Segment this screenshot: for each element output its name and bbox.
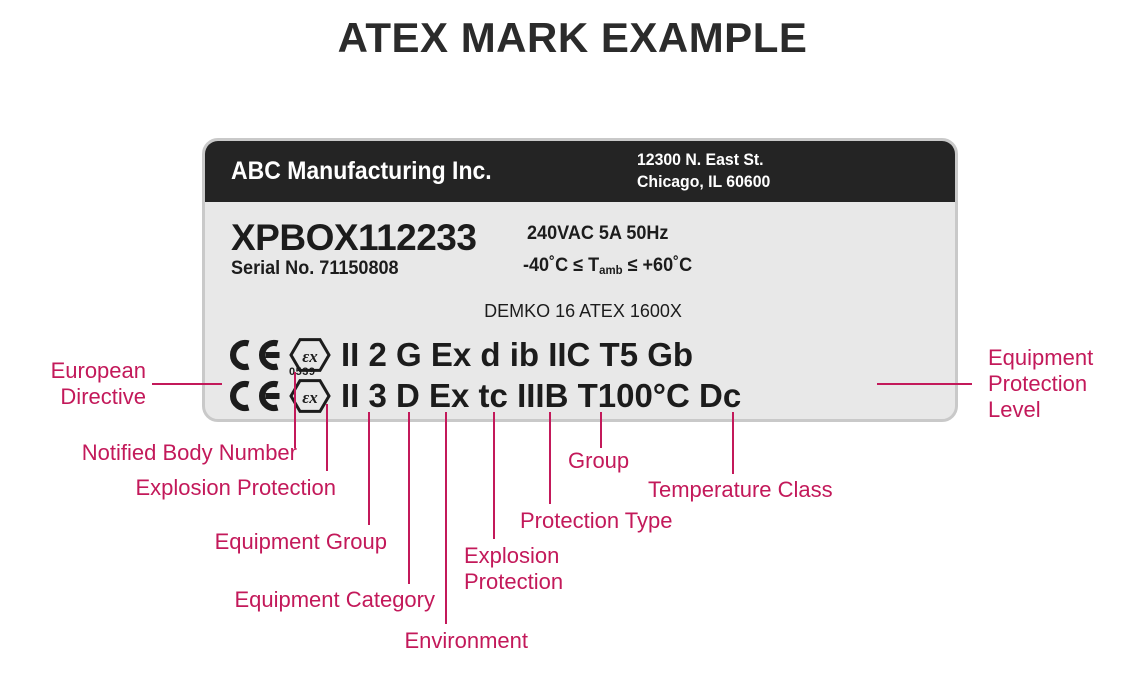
leader-line-explosion-protection (493, 412, 495, 539)
annotation-equipment-protection-level: Equipment Protection Level (988, 345, 1093, 423)
ce-mark-icon (227, 338, 283, 372)
leader-line-notified-body-number (294, 372, 296, 448)
electrical-rating: 240VAC 5A 50Hz (527, 223, 668, 245)
annotation-equipment-protection-level-line-2: Protection (988, 371, 1093, 397)
annotation-explosion-protection-line-2: Protection (464, 569, 563, 595)
annotation-temperature-class: Temperature Class (648, 477, 833, 503)
annotation-equipment-protection-level-line-3: Level (988, 397, 1093, 423)
leader-line-environment (445, 412, 447, 624)
annotation-environment: Environment (0, 628, 528, 654)
serial-number: Serial No. 71150808 (231, 258, 399, 280)
annotation-equipment-protection-level-line-1: Equipment (988, 345, 1093, 371)
page-title: ATEX MARK EXAMPLE (0, 14, 1145, 62)
temp-range-prefix: -40˚C ≤ T (523, 255, 599, 276)
svg-text:εx: εx (302, 388, 318, 407)
certificate-number: DEMKO 16 ATEX 1600X (205, 301, 958, 322)
annotation-equipment-category: Equipment Category (0, 587, 435, 613)
svg-text:εx: εx (302, 347, 318, 366)
manufacturer-address: 12300 N. East St. Chicago, IL 60600 (637, 149, 770, 193)
annotation-european-directive-line-1: European (0, 358, 146, 384)
annotation-explosion-protection-ex: Explosion Protection (0, 475, 336, 501)
marking-row-2: εx II 3 D Ex tc IIIB T100°C Dc (227, 375, 741, 417)
marking-text-gas: II 2 G Ex d ib IIC T5 Gb (341, 336, 693, 374)
annotation-protection-type: Protection Type (520, 508, 672, 534)
leader-line-equipment-group (368, 412, 370, 525)
notified-body-number-value: 0539 (289, 366, 315, 378)
leader-line-protection-type (549, 412, 551, 504)
leader-line-temperature-class (732, 412, 734, 474)
atex-mark-diagram: ATEX MARK EXAMPLE ABC Manufacturing Inc.… (0, 0, 1145, 686)
annotation-european-directive-line-2: Directive (0, 384, 146, 410)
temp-range-subscript: amb (599, 263, 622, 277)
address-line-1: 12300 N. East St. (637, 149, 770, 171)
marking-text-dust: II 3 D Ex tc IIIB T100°C Dc (341, 377, 741, 415)
leader-line-equipment-category (408, 412, 410, 584)
annotation-european-directive: European Directive (0, 358, 146, 410)
annotation-equipment-group: Equipment Group (0, 529, 387, 555)
leader-line-european-directive (152, 383, 222, 385)
address-line-2: Chicago, IL 60600 (637, 171, 770, 193)
ambient-temperature-range: -40˚C ≤ Tamb ≤ +60˚C (523, 255, 692, 277)
annotation-explosion-protection: Explosion Protection (464, 543, 563, 595)
leader-line-equipment-protection-level (877, 383, 972, 385)
model-number: XPBOX112233 (231, 217, 476, 259)
annotation-notified-body-number: Notified Body Number (0, 440, 297, 466)
annotation-group: Group (568, 448, 629, 474)
manufacturer-name: ABC Manufacturing Inc. (231, 157, 492, 186)
ce-mark-icon (227, 379, 283, 413)
leader-line-explosion-protection-ex (326, 404, 328, 471)
annotation-explosion-protection-line-1: Explosion (464, 543, 563, 569)
leader-line-group (600, 412, 602, 448)
nameplate-panel: ABC Manufacturing Inc. 12300 N. East St.… (202, 138, 958, 422)
temp-range-suffix: ≤ +60˚C (623, 255, 693, 276)
